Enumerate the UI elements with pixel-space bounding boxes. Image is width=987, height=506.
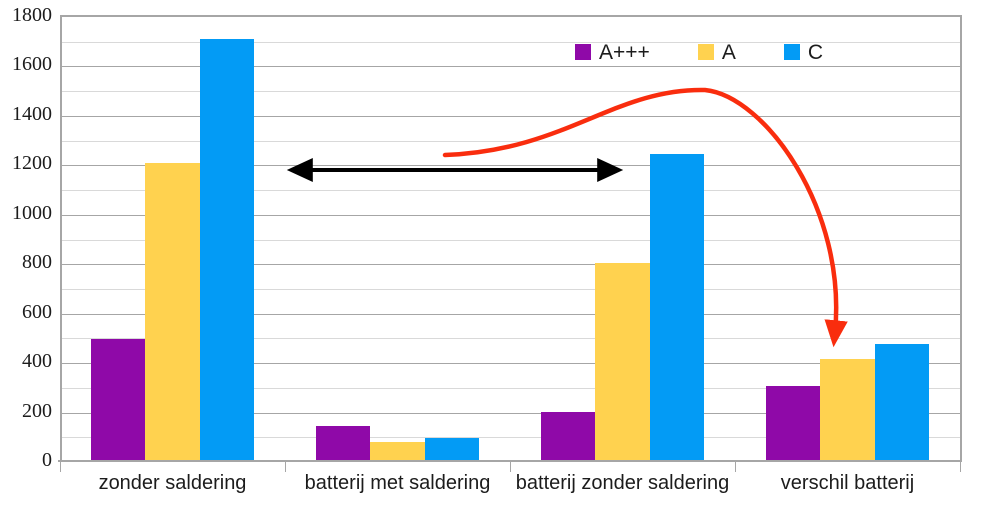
y-tick-label: 1600 — [12, 54, 52, 74]
legend-entry: A+++ — [575, 42, 650, 63]
legend-label: A+++ — [599, 42, 650, 63]
y-tick-label: 600 — [22, 302, 52, 322]
bar — [145, 163, 200, 460]
bar — [541, 412, 596, 460]
legend-entry: A — [698, 42, 736, 63]
legend-swatch-icon — [575, 44, 591, 60]
bar — [650, 154, 705, 460]
bars-layer — [60, 0, 960, 460]
bar — [200, 39, 255, 461]
bar — [820, 359, 875, 460]
y-tick-label: 0 — [42, 450, 52, 470]
x-axis-tick — [735, 460, 736, 472]
x-axis-category-label: batterij met saldering — [285, 472, 510, 494]
legend-label: C — [808, 42, 823, 63]
x-axis-tick — [510, 460, 511, 472]
x-axis-category-label: zonder saldering — [60, 472, 285, 494]
bar-chart: 020040060080010001200140016001800 zonder… — [0, 0, 987, 506]
legend: A+++AC — [575, 38, 823, 66]
x-axis-tick — [60, 460, 61, 472]
y-tick-label: 800 — [22, 252, 52, 272]
x-axis-tick — [960, 460, 961, 472]
y-tick-label: 1200 — [12, 153, 52, 173]
legend-swatch-icon — [698, 44, 714, 60]
legend-label: A — [722, 42, 736, 63]
bar — [766, 386, 821, 460]
y-tick-label: 200 — [22, 401, 52, 421]
y-tick-label: 1800 — [12, 5, 52, 25]
y-tick-label: 400 — [22, 351, 52, 371]
bar — [875, 344, 930, 460]
bar — [91, 339, 146, 460]
x-axis-category-label: batterij zonder saldering — [510, 472, 735, 494]
x-axis-category-label: verschil batterij — [735, 472, 960, 494]
legend-swatch-icon — [784, 44, 800, 60]
bar — [316, 426, 371, 460]
legend-entry: C — [784, 42, 823, 63]
bar — [425, 438, 480, 460]
bar — [370, 442, 425, 460]
y-tick-label: 1400 — [12, 104, 52, 124]
y-axis: 020040060080010001200140016001800 — [0, 0, 58, 470]
x-axis-tick — [285, 460, 286, 472]
plot-right-border — [960, 15, 962, 462]
y-tick-label: 1000 — [12, 203, 52, 223]
bar — [595, 263, 650, 460]
